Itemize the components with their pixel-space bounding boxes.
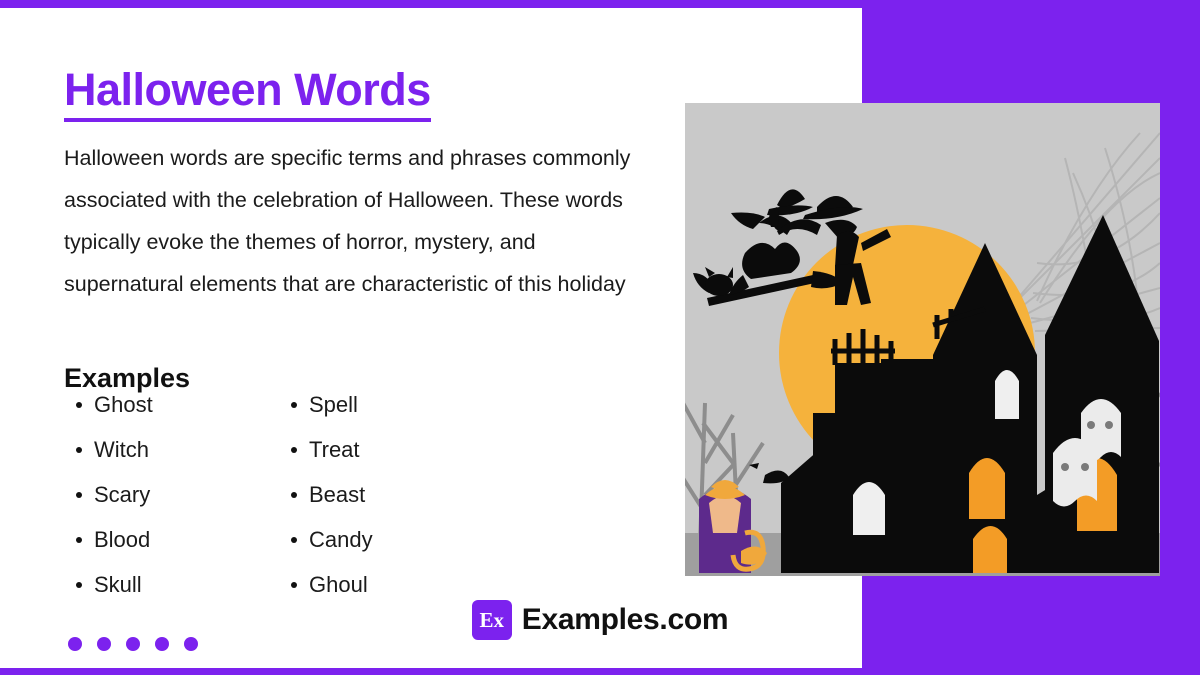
page-title: Halloween Words	[64, 64, 431, 122]
examples-columns: Ghost Witch Scary Blood Skull Spell Trea…	[64, 382, 584, 607]
haunted-house-scene-icon	[685, 103, 1160, 576]
list-item: Ghost	[94, 382, 279, 427]
brand-name: Examples.com	[522, 603, 729, 637]
list-item: Beast	[309, 472, 494, 517]
list-item: Candy	[309, 517, 494, 562]
brand-logo-mark: Ex	[472, 600, 512, 640]
slide-root: Halloween Words Halloween words are spec…	[0, 0, 1200, 675]
list-item: Witch	[94, 427, 279, 472]
illustration-image	[685, 103, 1160, 576]
list-item: Blood	[94, 517, 279, 562]
footer-brand: Ex Examples.com	[0, 600, 1200, 640]
list-item: Treat	[309, 427, 494, 472]
list-item: Spell	[309, 382, 494, 427]
intro-paragraph: Halloween words are specific terms and p…	[64, 137, 634, 305]
list-item: Scary	[94, 472, 279, 517]
examples-column-left: Ghost Witch Scary Blood Skull	[64, 382, 279, 607]
examples-column-right: Spell Treat Beast Candy Ghoul	[279, 382, 494, 607]
